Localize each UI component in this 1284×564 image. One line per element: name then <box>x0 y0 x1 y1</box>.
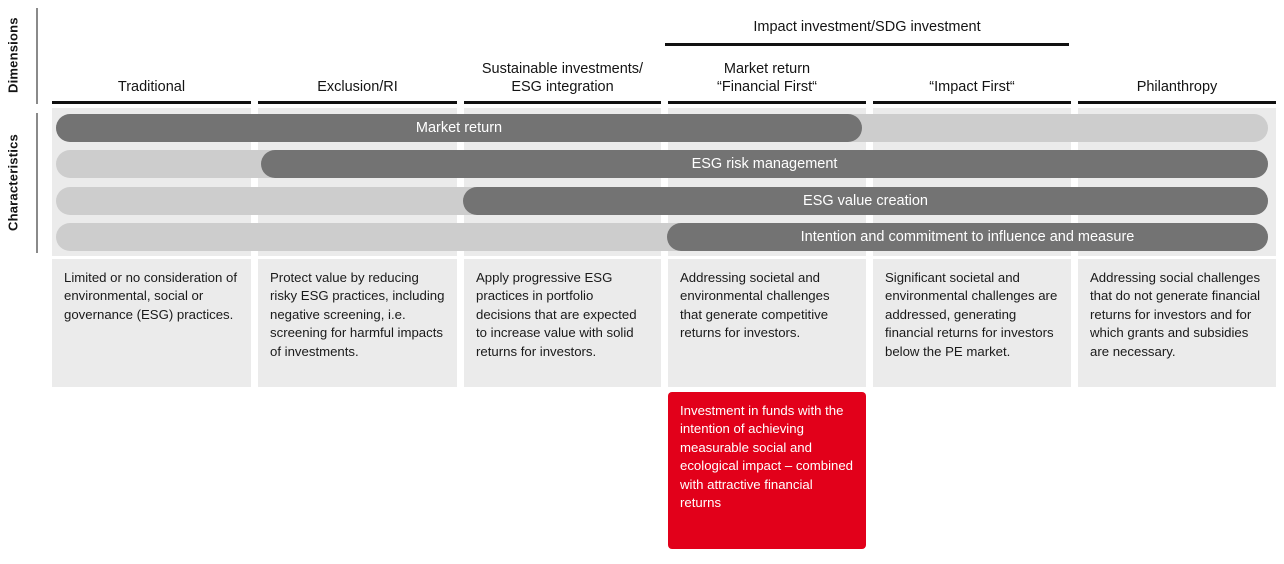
column-header-line1: Exclusion/RI <box>258 78 457 96</box>
group-header-rule <box>665 43 1069 46</box>
characteristic-bar-esg-risk-management: ESG risk management <box>261 150 1268 178</box>
axis-label-characteristics: Characteristics <box>2 112 24 254</box>
column-rule-philanthropy <box>1078 101 1276 104</box>
description-impact-first: Significant societal and environmental c… <box>873 259 1071 387</box>
column-rule-exclusion-ri <box>258 101 457 104</box>
column-header-line1: Market return <box>668 60 866 78</box>
description-exclusion-ri: Protect value by reducing risky ESG prac… <box>258 259 457 387</box>
column-header-sustainable-investments: Sustainable investments/ ESG integration <box>464 60 661 96</box>
column-header-line1: “Impact First“ <box>873 78 1071 96</box>
column-header-impact-first: “Impact First“ <box>873 78 1071 96</box>
description-philanthropy: Addressing social challenges that do not… <box>1078 259 1276 387</box>
column-rule-impact-first <box>873 101 1071 104</box>
group-header-impact-investment: Impact investment/SDG investment <box>665 19 1069 35</box>
axis-label-dimensions: Dimensions <box>2 6 24 104</box>
characteristic-bar-esg-value-creation: ESG value creation <box>463 187 1268 215</box>
column-rule-traditional <box>52 101 251 104</box>
column-rule-market-return-financial-first <box>668 101 866 104</box>
characteristic-bar-intention-commitment: Intention and commitment to influence an… <box>667 223 1268 251</box>
description-market-return-financial-first: Addressing societal and environmental ch… <box>668 259 866 387</box>
column-header-exclusion-ri: Exclusion/RI <box>258 78 457 96</box>
column-header-philanthropy: Philanthropy <box>1078 78 1276 96</box>
axis-rule-dimensions <box>36 8 38 104</box>
column-header-line1: Traditional <box>52 78 251 96</box>
column-header-line2: ESG integration <box>464 78 661 96</box>
description-traditional: Limited or no consideration of environme… <box>52 259 251 387</box>
characteristic-bar-market-return: Market return <box>56 114 862 142</box>
column-header-market-return-financial-first: Market return “Financial First“ <box>668 60 866 96</box>
axis-rule-characteristics <box>36 113 38 253</box>
highlight-callout-impact-investment: Investment in funds with the intention o… <box>668 392 866 549</box>
column-header-line1: Philanthropy <box>1078 78 1276 96</box>
column-rule-sustainable-investments <box>464 101 661 104</box>
column-header-line2: “Financial First“ <box>668 78 866 96</box>
column-header-traditional: Traditional <box>52 78 251 96</box>
description-sustainable-investments: Apply progressive ESG practices in portf… <box>464 259 661 387</box>
column-header-line1: Sustainable investments/ <box>464 60 661 78</box>
